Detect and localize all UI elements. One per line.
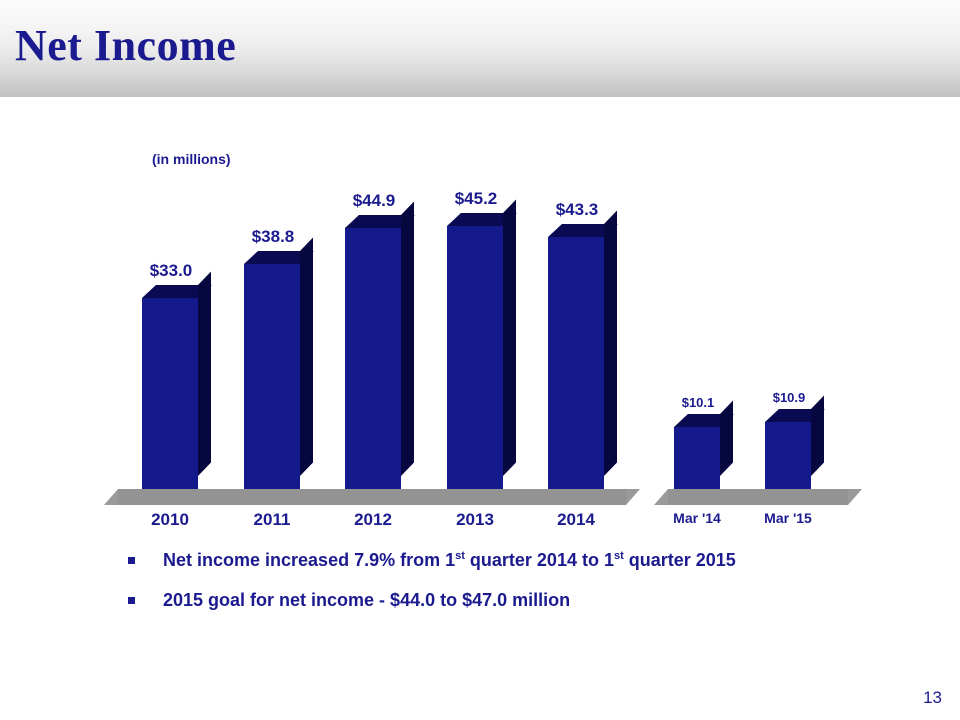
square-bullet-icon [128,597,135,604]
chart-category-label-mar-15: Mar '15 [749,510,827,526]
chart-bar-value-label: $33.0 [130,261,212,281]
chart-category-label-2010: 2010 [126,510,214,530]
chart-bar-side-face [503,200,516,476]
net-income-bar-chart: (in millions) $33.0$38.8$44.9$45.2$43.3$… [0,97,960,537]
chart-bar [548,237,604,489]
chart-bar [345,228,401,489]
chart-bar [674,427,720,489]
chart-bar-side-face [401,202,414,476]
chart-bar-value-label: $38.8 [232,227,314,247]
chart-bar [447,226,503,489]
bullet-text: Net income increased 7.9% from 1st quart… [163,548,736,572]
chart-bar-value-label: $44.9 [333,191,415,211]
bullet-item: 2015 goal for net income - $44.0 to $47.… [128,588,928,612]
chart-bar-side-face [811,396,824,476]
page-title: Net Income [15,18,236,74]
chart-bar-value-label: $10.1 [662,395,734,410]
annual-floor [118,489,626,505]
chart-category-label-2012: 2012 [329,510,417,530]
chart-bar-value-label: $10.9 [753,390,825,405]
bullet-item: Net income increased 7.9% from 1st quart… [128,548,928,572]
quarterly-floor [668,489,848,505]
page-number: 13 [923,688,942,708]
bullet-list: Net income increased 7.9% from 1st quart… [128,548,928,628]
bullet-text: 2015 goal for net income - $44.0 to $47.… [163,588,570,612]
chart-bar-value-label: $43.3 [536,200,618,220]
chart-bar-side-face [300,238,313,476]
chart-category-label-2014: 2014 [532,510,620,530]
chart-bar-side-face [198,272,211,476]
chart-units-label: (in millions) [152,151,231,167]
chart-bar-side-face [720,401,733,476]
chart-category-label-2011: 2011 [228,510,316,530]
chart-bar [765,422,811,489]
square-bullet-icon [128,557,135,564]
chart-category-label-mar-14: Mar '14 [658,510,736,526]
chart-bar [142,298,198,489]
chart-bar-side-face [604,211,617,476]
chart-bar-value-label: $45.2 [435,189,517,209]
chart-category-label-2013: 2013 [431,510,519,530]
chart-bar [244,264,300,489]
